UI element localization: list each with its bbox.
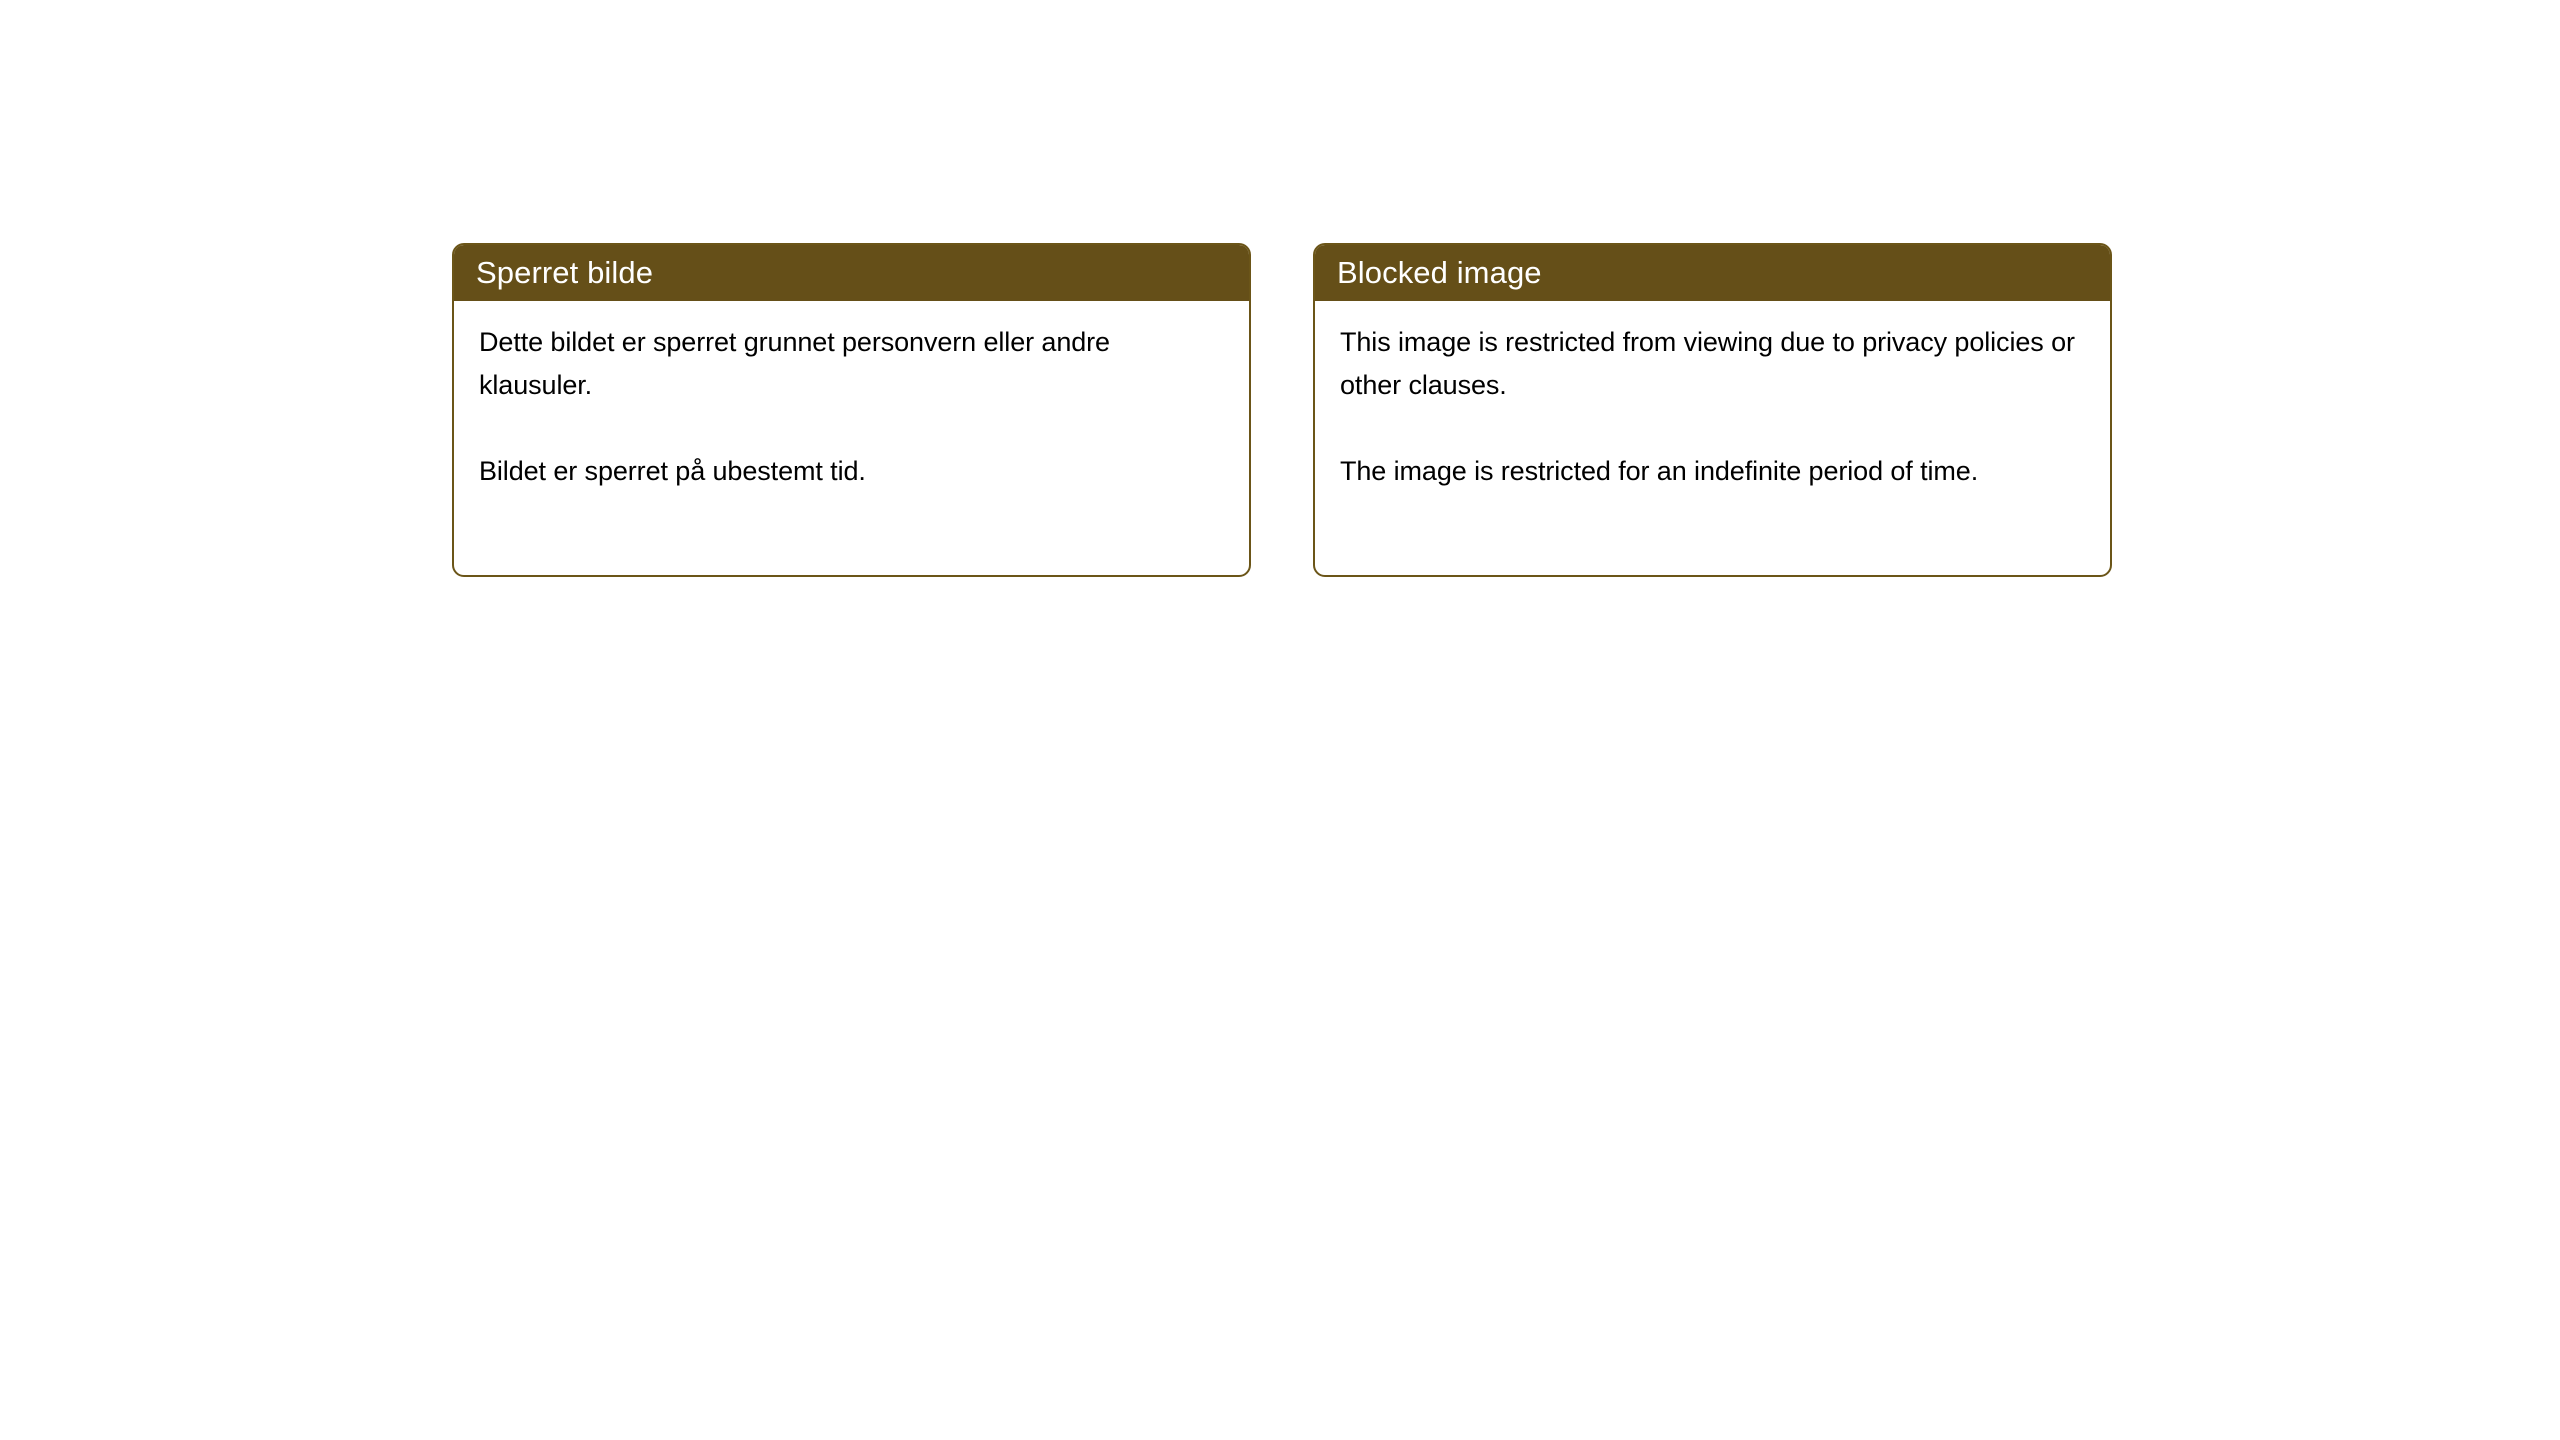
page-root: { "theme": { "header_bg": "#654f18", "bo… <box>0 0 2560 1440</box>
notice-body-english: This image is restricted from viewing du… <box>1315 301 2110 493</box>
notice-title-english: Blocked image <box>1337 257 1542 288</box>
notice-paragraph-reason-english: This image is restricted from viewing du… <box>1340 321 2086 407</box>
notice-body-norwegian: Dette bildet er sperret grunnet personve… <box>454 301 1249 493</box>
blocked-image-notice-card-english: Blocked image This image is restricted f… <box>1313 243 2112 577</box>
notice-header-norwegian: Sperret bilde <box>452 243 1251 301</box>
notice-title-norwegian: Sperret bilde <box>476 257 653 288</box>
notice-paragraph-reason-norwegian: Dette bildet er sperret grunnet personve… <box>479 321 1225 407</box>
notice-paragraph-duration-english: The image is restricted for an indefinit… <box>1340 450 2086 493</box>
notice-paragraph-duration-norwegian: Bildet er sperret på ubestemt tid. <box>479 450 1225 493</box>
notice-header-english: Blocked image <box>1313 243 2112 301</box>
blocked-image-notice-card-norwegian: Sperret bilde Dette bildet er sperret gr… <box>452 243 1251 577</box>
